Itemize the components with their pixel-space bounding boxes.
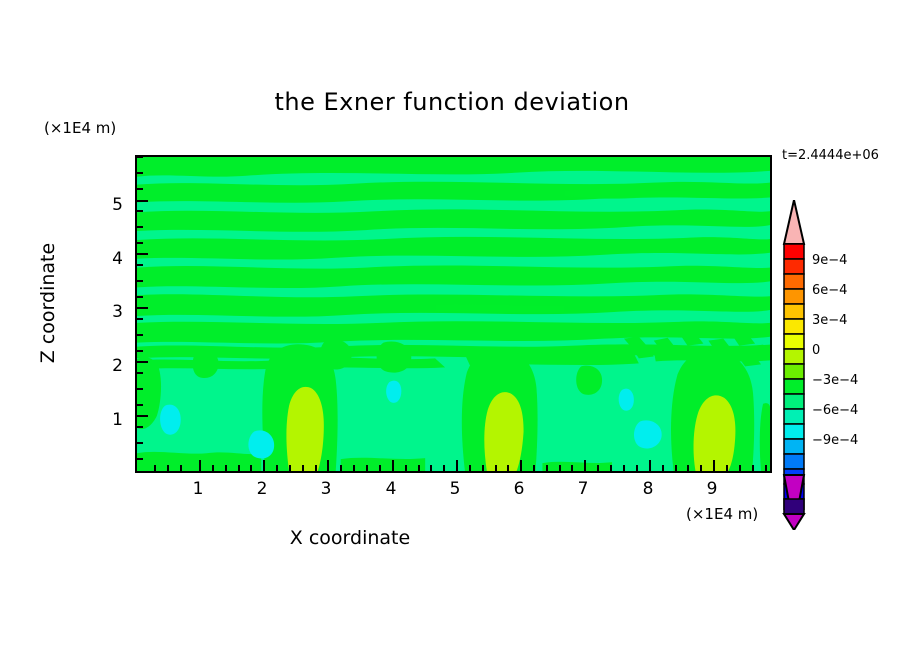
x-tick-minor — [687, 465, 689, 471]
x-tick-label: 5 — [435, 479, 475, 499]
x-tick-minor — [405, 465, 407, 471]
x-axis-unit-label: (×1E4 m) — [686, 505, 758, 523]
x-tick-minor — [379, 465, 381, 471]
x-tick-label: 8 — [628, 479, 668, 499]
x-tick-minor — [212, 465, 214, 471]
x-tick-minor — [726, 465, 728, 471]
x-tick-minor — [276, 465, 278, 471]
contour-plot-area — [135, 155, 772, 473]
x-tick-minor — [559, 465, 561, 471]
y-tick-major — [137, 361, 148, 363]
x-tick-label: 1 — [178, 479, 218, 499]
y-tick-minor — [137, 156, 143, 158]
y-tick-minor — [137, 226, 143, 228]
colorbar-tick-label: 9e−4 — [812, 253, 847, 268]
y-tick-minor — [137, 458, 143, 460]
x-tick-minor — [353, 465, 355, 471]
x-tick-minor — [340, 465, 342, 471]
x-tick-label: 9 — [692, 479, 732, 499]
x-tick-minor — [610, 465, 612, 471]
x-tick-major — [456, 460, 458, 471]
y-tick-minor — [137, 188, 143, 190]
y-tick-minor — [137, 264, 143, 266]
x-tick-minor — [482, 465, 484, 471]
x-tick-minor — [739, 465, 741, 471]
x-tick-minor — [154, 465, 156, 471]
x-tick-major — [584, 460, 586, 471]
x-tick-major — [263, 460, 265, 471]
x-tick-minor — [597, 465, 599, 471]
colorbar-tick-label: −9e−4 — [812, 433, 858, 448]
y-tick-major — [137, 200, 148, 202]
y-tick-minor — [137, 242, 143, 244]
x-tick-major — [392, 460, 394, 471]
x-tick-minor — [662, 465, 664, 471]
y-tick-minor — [137, 350, 143, 352]
x-tick-label: 6 — [499, 479, 539, 499]
colorbar-tick-label: 0 — [812, 343, 820, 358]
x-tick-minor — [238, 465, 240, 471]
x-tick-minor — [507, 465, 509, 471]
y-tick-label: 1 — [95, 410, 123, 430]
x-tick-minor — [430, 465, 432, 471]
x-tick-minor — [225, 465, 227, 471]
y-tick-minor — [137, 442, 143, 444]
y-tick-label: 3 — [95, 302, 123, 322]
x-tick-minor — [623, 465, 625, 471]
time-annotation: t=2.4444e+06 — [782, 148, 879, 163]
y-tick-minor — [137, 372, 143, 374]
x-tick-minor — [180, 465, 182, 471]
chart-title: the Exner function deviation — [0, 88, 904, 116]
x-tick-minor — [700, 465, 702, 471]
y-tick-major — [137, 415, 148, 417]
x-tick-minor — [418, 465, 420, 471]
x-tick-minor — [250, 465, 252, 471]
x-tick-minor — [752, 465, 754, 471]
x-tick-minor — [443, 465, 445, 471]
y-tick-label: 5 — [95, 195, 123, 215]
x-tick-minor — [302, 465, 304, 471]
y-tick-minor — [137, 296, 143, 298]
y-tick-minor — [137, 404, 143, 406]
y-tick-minor — [137, 210, 143, 212]
x-tick-major — [327, 460, 329, 471]
colorbar — [782, 200, 806, 510]
x-tick-major — [520, 460, 522, 471]
y-tick-label: 4 — [95, 249, 123, 269]
x-tick-major — [649, 460, 651, 471]
y-tick-minor — [137, 334, 143, 336]
x-tick-major — [199, 460, 201, 471]
y-tick-minor — [137, 426, 143, 428]
contour-field — [137, 157, 770, 471]
x-tick-minor — [167, 465, 169, 471]
y-tick-minor — [137, 172, 143, 174]
x-tick-major — [713, 460, 715, 471]
colorbar-tick-label: 3e−4 — [812, 313, 847, 328]
x-axis-title: X coordinate — [0, 527, 700, 549]
x-tick-minor — [533, 465, 535, 471]
y-tick-minor — [137, 388, 143, 390]
colorbar-tick-label: −3e−4 — [812, 373, 858, 388]
x-tick-minor — [366, 465, 368, 471]
y-axis-unit-label: (×1E4 m) — [44, 119, 116, 137]
x-tick-minor — [636, 465, 638, 471]
x-tick-label: 7 — [563, 479, 603, 499]
x-tick-label: 3 — [306, 479, 346, 499]
y-tick-minor — [137, 280, 143, 282]
x-tick-minor — [315, 465, 317, 471]
x-tick-minor — [571, 465, 573, 471]
colorbar-tick-label: −6e−4 — [812, 403, 858, 418]
y-tick-label: 2 — [95, 356, 123, 376]
y-axis-title: Z coordinate — [37, 213, 59, 393]
y-tick-minor — [137, 318, 143, 320]
colorbar-tick-label: 6e−4 — [812, 283, 847, 298]
x-tick-minor — [495, 465, 497, 471]
y-tick-major — [137, 307, 148, 309]
x-tick-minor — [765, 465, 767, 471]
x-tick-label: 2 — [242, 479, 282, 499]
x-tick-label: 4 — [371, 479, 411, 499]
x-tick-minor — [675, 465, 677, 471]
y-tick-major — [137, 253, 148, 255]
x-tick-minor — [289, 465, 291, 471]
x-tick-minor — [469, 465, 471, 471]
x-tick-minor — [546, 465, 548, 471]
